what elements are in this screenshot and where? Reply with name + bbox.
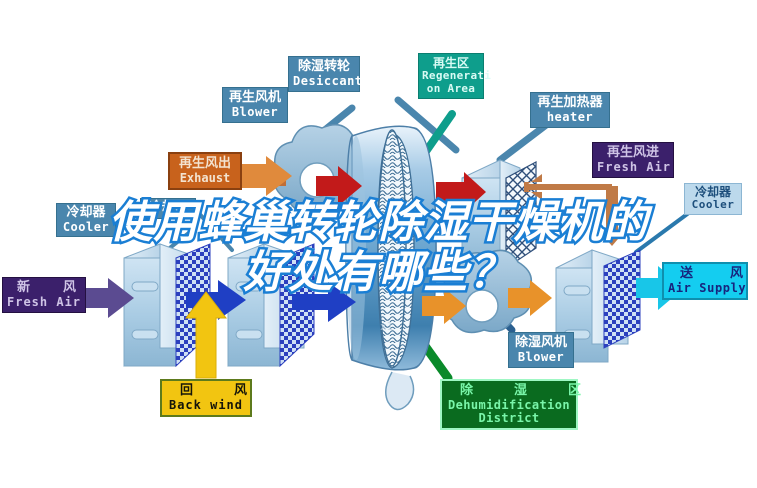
label-cooler-left: 冷却器 Cooler: [56, 203, 116, 237]
label-cooler-mid-cn: 冷却器: [145, 201, 191, 216]
label-air-supply-cn: 送 风: [668, 267, 742, 282]
label-dehumidification-area-en1: Dehumidification: [446, 399, 572, 412]
label-regeneration-exhaust-en: Exhaust: [174, 172, 236, 185]
label-dehumidification-blower-en: Blower: [513, 351, 569, 364]
label-regeneration-blower: 再生风机 Blower: [222, 87, 288, 123]
label-cooler-right: 冷却器 Cooler: [684, 183, 742, 215]
label-air-supply: 送 风 Air Supply: [662, 262, 748, 300]
label-cooler-left-cn: 冷却器: [61, 206, 111, 221]
label-desiccant-rotor: 除湿转轮 Desiccant: [288, 56, 360, 92]
label-fresh-air-cn: 新 风: [7, 281, 81, 296]
label-cooler-left-en: Cooler: [61, 221, 111, 234]
desiccant-rotor-wheel: x1: [346, 126, 436, 409]
label-desiccant-rotor-cn: 除湿转轮: [293, 60, 355, 75]
label-back-wind: 回 风 Back wind: [160, 379, 252, 417]
label-dehumidification-area: 除 湿 区 Dehumidification District: [440, 379, 578, 430]
label-regeneration-heater: 再生加热器 heater: [530, 92, 610, 128]
label-regeneration-area-en2: on Area: [422, 83, 480, 95]
svg-text:x1: x1: [380, 320, 394, 333]
diagram-artwork: x1: [0, 0, 757, 488]
label-air-supply-en: Air Supply: [668, 282, 742, 295]
label-regeneration-exhaust: 再生风出 Exhaust: [168, 152, 242, 190]
label-cooler-mid: 冷却器: [140, 198, 196, 219]
label-dehumidification-blower-cn: 除湿风机: [513, 336, 569, 351]
label-regeneration-exhaust-cn: 再生风出: [174, 157, 236, 172]
label-regeneration-fresh-air: 再生风进 Fresh Air: [592, 142, 674, 178]
label-desiccant-rotor-en: Desiccant: [293, 75, 355, 88]
diagram-canvas: x1: [0, 0, 757, 488]
regen-fresh-riser: [600, 186, 624, 246]
label-dehumidification-blower: 除湿风机 Blower: [508, 332, 574, 368]
label-regeneration-heater-en: heater: [535, 111, 605, 124]
label-regeneration-blower-en: Blower: [227, 106, 283, 119]
label-regeneration-area-en1: Regenerati: [422, 70, 480, 82]
label-dehumidification-area-cn: 除 湿 区: [446, 384, 572, 399]
label-regeneration-blower-cn: 再生风机: [227, 91, 283, 106]
label-fresh-air: 新 风 Fresh Air: [2, 277, 86, 313]
label-regeneration-area: 再生区 Regenerati on Area: [418, 53, 484, 99]
label-fresh-air-en: Fresh Air: [7, 296, 81, 309]
label-regeneration-heater-cn: 再生加热器: [535, 96, 605, 111]
label-regeneration-fresh-air-en: Fresh Air: [597, 161, 669, 174]
label-dehumidification-area-en2: District: [446, 412, 572, 425]
label-regeneration-area-cn: 再生区: [422, 57, 480, 70]
label-regeneration-fresh-air-cn: 再生风进: [597, 146, 669, 161]
label-cooler-right-en: Cooler: [689, 199, 737, 211]
label-back-wind-cn: 回 风: [166, 384, 246, 399]
label-cooler-right-cn: 冷却器: [689, 186, 737, 199]
label-back-wind-en: Back wind: [166, 399, 246, 412]
